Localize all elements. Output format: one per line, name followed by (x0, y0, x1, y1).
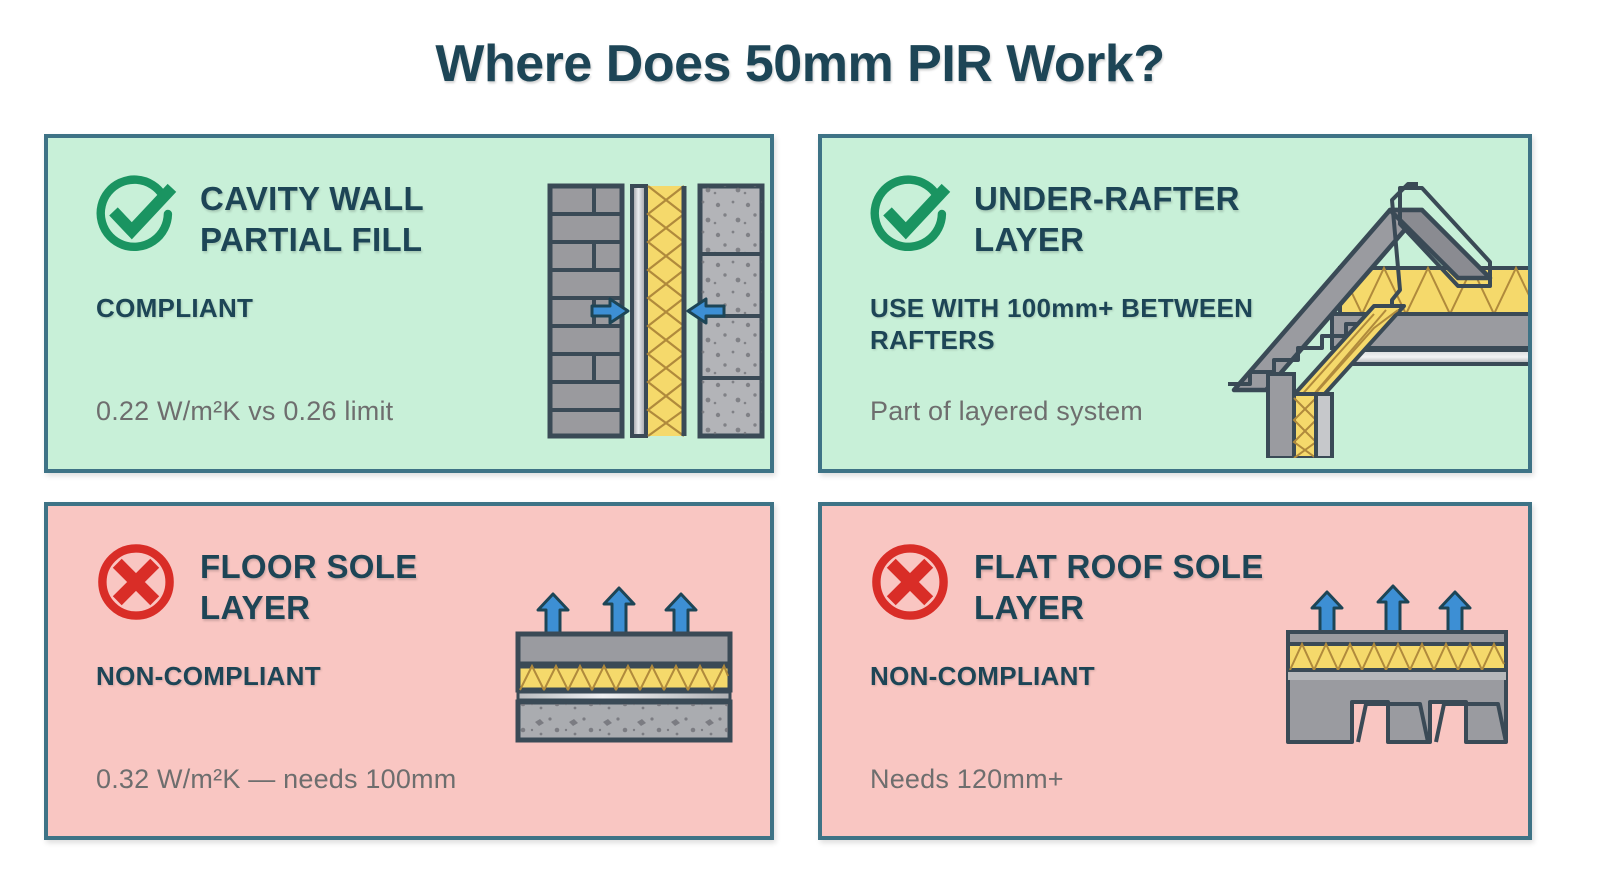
cross-circle-icon (94, 540, 178, 624)
page-title: Where Does 50mm PIR Work? (0, 34, 1600, 94)
flat-roof-buildup-diagram (1270, 584, 1520, 744)
card-verdict: COMPLIANT (96, 293, 253, 325)
card-grid: CAVITY WALL PARTIAL FILL COMPLIANT 0.22 … (44, 134, 1532, 840)
card-floor-sole-layer: FLOOR SOLE LAYER NON-COMPLIANT 0.32 W/m²… (44, 502, 774, 840)
concrete-slab (518, 702, 730, 740)
cross-circle-icon (868, 540, 952, 624)
card-verdict: NON-COMPLIANT (96, 661, 321, 693)
card-title: FLOOR SOLE LAYER (200, 540, 530, 629)
damp-proof-membrane (518, 692, 730, 700)
card-verdict: NON-COMPLIANT (870, 661, 1095, 693)
card-under-rafter-layer: UNDER-RAFTER LAYER USE WITH 100mm+ BETWE… (818, 134, 1532, 473)
between-rafter-insulation (1340, 268, 1532, 314)
floor-buildup-diagram (496, 584, 746, 744)
card-detail: 0.32 W/m²K — needs 100mm (96, 764, 456, 795)
residual-cavity (632, 186, 646, 436)
check-circle-icon (94, 172, 178, 256)
screed-layer (518, 634, 730, 664)
pir-insulation-board (518, 666, 730, 690)
card-header: CAVITY WALL PARTIAL FILL (94, 172, 530, 261)
card-detail: Needs 120mm+ (870, 764, 1064, 795)
pir-insulation-board (648, 186, 684, 436)
card-header: FLOOR SOLE LAYER (94, 540, 530, 629)
structural-deck (1288, 672, 1506, 742)
card-title: CAVITY WALL PARTIAL FILL (200, 172, 530, 261)
card-title: FLAT ROOF SOLE LAYER (974, 540, 1304, 629)
heat-loss-arrows (1312, 586, 1470, 636)
card-flat-roof-sole-layer: FLAT ROOF SOLE LAYER NON-COMPLIANT Needs… (818, 502, 1532, 840)
pitched-roof-section-diagram (1222, 158, 1532, 458)
pir-insulation-board (1288, 644, 1506, 670)
card-detail: 0.22 W/m²K vs 0.26 limit (96, 396, 393, 427)
card-detail: Part of layered system (870, 396, 1143, 427)
cavity-wall-section-diagram (532, 168, 772, 448)
card-header: FLAT ROOF SOLE LAYER (868, 540, 1304, 629)
check-circle-icon (868, 172, 952, 256)
card-cavity-wall-partial-fill: CAVITY WALL PARTIAL FILL COMPLIANT 0.22 … (44, 134, 774, 473)
infographic-page: Where Does 50mm PIR Work? CAVITY WALL PA… (0, 0, 1600, 893)
